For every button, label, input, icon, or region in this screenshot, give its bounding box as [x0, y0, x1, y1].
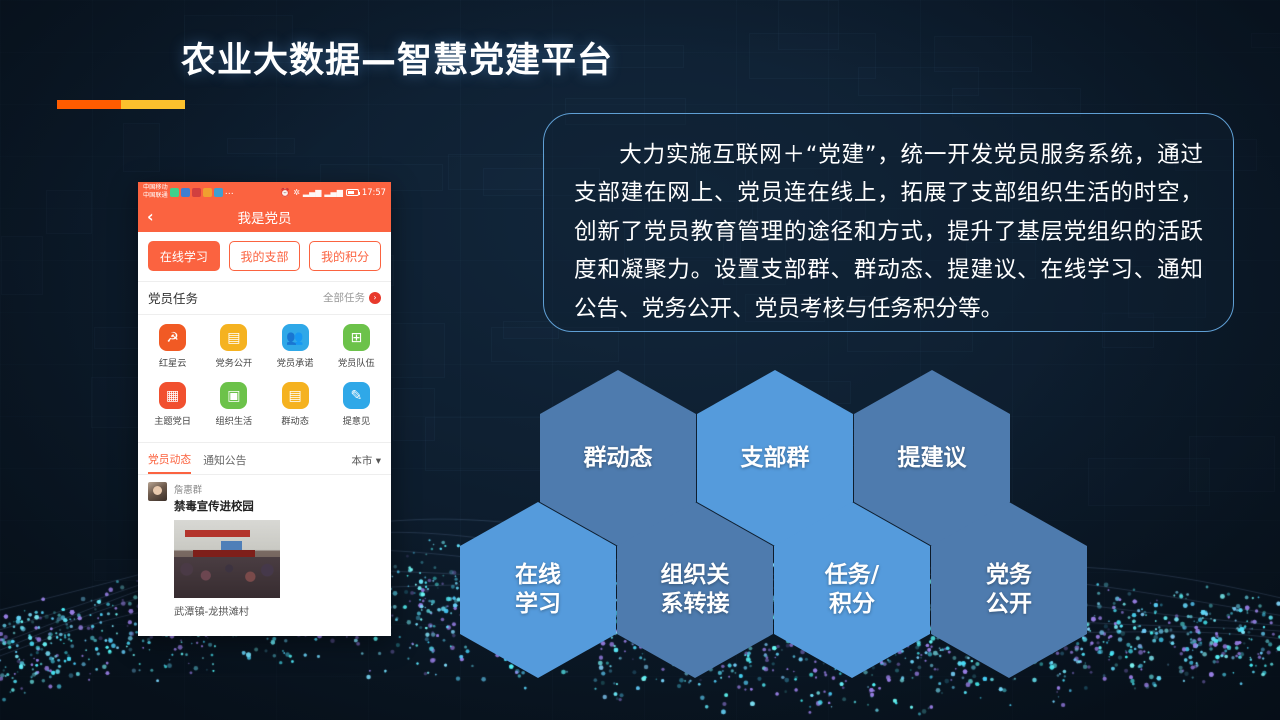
app-icon-cell[interactable]: ▣组织生活 [203, 382, 264, 427]
back-icon[interactable]: ‹ [147, 209, 154, 225]
photo-stage [193, 550, 254, 557]
city-filter-dropdown[interactable]: 本市 ▾ [351, 453, 381, 473]
phone-header: ‹ 我是党员 [138, 202, 391, 232]
app-icon-label: 党员队伍 [338, 355, 375, 369]
book-icon: ▣ [220, 382, 247, 409]
accent-bar [57, 100, 185, 109]
photo-banner [185, 530, 251, 537]
hexagon-cluster: 群动态支部群提建议在线 学习组织关 系转接任务/ 积分党务 公开 [540, 370, 1200, 670]
hexagon-label: 任务/ 积分 [825, 561, 879, 619]
org-chart-icon: ⊞ [343, 324, 370, 351]
post-title: 禁毒宣传进校园 [174, 498, 254, 514]
title-block: 农业大数据—智慧党建平台 [57, 32, 613, 109]
hexagon-label: 群动态 [584, 444, 653, 473]
document-icon: ▦ [159, 382, 186, 409]
status-overflow-icon: … [225, 187, 234, 197]
post-caption: 武潭镇-龙拱滩村 [174, 603, 391, 618]
app-icon-cell[interactable]: ⊞党员队伍 [326, 324, 387, 369]
app-icon-cell[interactable]: ☭红星云 [142, 324, 203, 369]
status-app-icon [170, 188, 179, 197]
app-icon-cell[interactable]: 👥党员承诺 [265, 324, 326, 369]
feed-tab-announcements[interactable]: 通知公告 [203, 452, 246, 473]
feed-tabs: 党员动态 通知公告 本市 ▾ [138, 442, 391, 474]
page-title: 农业大数据—智慧党建平台 [181, 32, 613, 83]
people-icon: 👥 [282, 324, 309, 351]
post-photo [174, 520, 280, 598]
phone-status-bar: 中国移动 中国联通 … ⏰ ✲ ▂▄▆ ▂▄▆ 17:57 [138, 182, 391, 202]
app-icon-label: 红星云 [159, 355, 187, 369]
pencil-icon: ✎ [343, 382, 370, 409]
signal-icon: ▂▄▆ [303, 188, 321, 197]
status-app-icon [181, 188, 190, 197]
signal-icon: ▂▄▆ [324, 188, 342, 197]
feed-post[interactable]: 詹惠群 禁毒宣传进校园 [138, 474, 391, 514]
carrier-line-1: 中国移动 [143, 184, 168, 192]
post-body: 詹惠群 禁毒宣传进校园 [174, 482, 254, 514]
app-icon-cell[interactable]: ▦主题党日 [142, 382, 203, 427]
status-time: 17:57 [362, 187, 386, 197]
battery-icon [346, 189, 359, 196]
description-panel: 大力实施互联网＋“党建”，统一开发党员服务系统，通过支部建在网上、党员连在线上，… [543, 113, 1234, 332]
status-app-icon [192, 188, 201, 197]
stacked-docs-icon: ▤ [282, 382, 309, 409]
alarm-icon: ⏰ [280, 188, 290, 197]
hexagon-label: 提建议 [898, 444, 967, 473]
carrier-line-2: 中国联通 [143, 192, 168, 200]
phone-tab-在线学习[interactable]: 在线学习 [148, 241, 220, 271]
status-bar-left: 中国移动 中国联通 … [143, 184, 234, 200]
avatar [148, 482, 167, 501]
all-tasks-link[interactable]: 全部任务 › [323, 290, 381, 305]
app-icon-label: 党员承诺 [277, 355, 314, 369]
status-app-icon [214, 188, 223, 197]
phone-mockup: 中国移动 中国联通 … ⏰ ✲ ▂▄▆ ▂▄▆ 17:57 ‹ 我是党员 在线学… [138, 182, 391, 636]
id-card-icon: ▤ [220, 324, 247, 351]
app-icon-label: 党务公开 [216, 355, 253, 369]
all-tasks-label: 全部任务 [323, 290, 365, 305]
task-section-header: 党员任务 全部任务 › [138, 281, 391, 315]
photo-crowd [174, 557, 280, 598]
carrier-labels: 中国移动 中国联通 [143, 184, 168, 200]
chevron-right-icon: › [369, 292, 381, 304]
hexagon-label: 支部群 [741, 444, 810, 473]
accent-bar-orange [57, 100, 121, 109]
app-icon-cell[interactable]: ✎提意见 [326, 382, 387, 427]
bluetooth-icon: ✲ [293, 188, 300, 197]
app-icon-label: 组织生活 [216, 413, 253, 427]
hexagon-label: 组织关 系转接 [661, 561, 730, 619]
hammer-sickle-icon: ☭ [159, 324, 186, 351]
task-section-title: 党员任务 [148, 288, 198, 307]
app-icon-row-2: ▦主题党日▣组织生活▤群动态✎提意见 [138, 371, 391, 436]
hexagon-label: 党务 公开 [986, 561, 1032, 619]
post-author: 詹惠群 [174, 482, 254, 496]
app-icon-row-1: ☭红星云▤党务公开👥党员承诺⊞党员队伍 [138, 315, 391, 371]
accent-bar-yellow [121, 100, 185, 109]
phone-tab-我的积分[interactable]: 我的积分 [309, 241, 381, 271]
status-bar-right: ⏰ ✲ ▂▄▆ ▂▄▆ 17:57 [280, 187, 386, 197]
description-text: 大力实施互联网＋“党建”，统一开发党员服务系统，通过支部建在网上、党员连在线上，… [574, 136, 1203, 328]
feed-tab-member-news[interactable]: 党员动态 [148, 451, 191, 474]
hexagon-label: 在线 学习 [515, 561, 561, 619]
app-icon-cell[interactable]: ▤党务公开 [203, 324, 264, 369]
status-app-icon [203, 188, 212, 197]
app-icon-label: 提意见 [343, 413, 371, 427]
app-icon-label: 主题党日 [154, 413, 191, 427]
phone-tab-pills: 在线学习我的支部我的积分 [138, 232, 391, 281]
app-icon-label: 群动态 [281, 413, 309, 427]
phone-header-title: 我是党员 [138, 207, 391, 227]
app-icon-cell[interactable]: ▤群动态 [265, 382, 326, 427]
phone-tab-我的支部[interactable]: 我的支部 [229, 241, 301, 271]
